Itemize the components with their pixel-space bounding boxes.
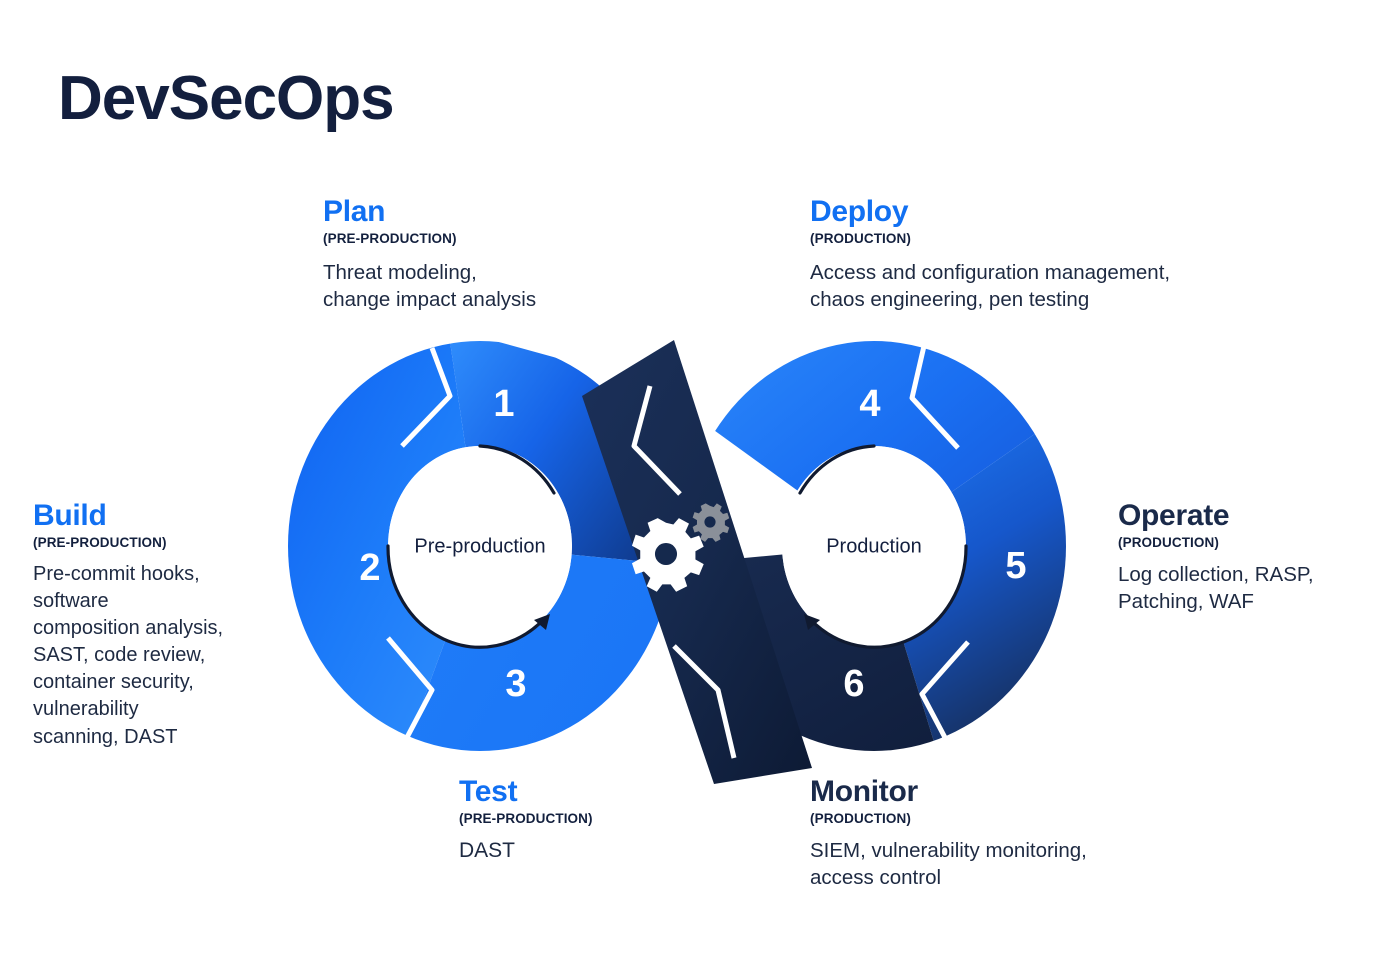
devsecops-infinity-loop: Pre-production Production 1 2 3 4 xyxy=(282,338,1072,788)
stage-env-operate: (PRODUCTION) xyxy=(1118,535,1388,550)
stage-title-test: Test xyxy=(459,776,759,808)
stage-block-operate: Operate (PRODUCTION) Log collection, RAS… xyxy=(1118,500,1388,615)
stage-block-monitor: Monitor (PRODUCTION) SIEM, vulnerability… xyxy=(810,776,1230,891)
stage-title-deploy: Deploy xyxy=(810,196,1330,228)
hub-left-label: Pre-production xyxy=(414,535,545,557)
stage-env-deploy: (PRODUCTION) xyxy=(810,231,1330,246)
hub-left: Pre-production xyxy=(388,446,572,647)
hub-right-label: Production xyxy=(826,535,922,557)
stage-env-monitor: (PRODUCTION) xyxy=(810,811,1230,826)
loop-number-1: 1 xyxy=(493,383,514,425)
stage-desc-deploy: Access and configuration management, cha… xyxy=(810,259,1330,314)
stage-block-test: Test (PRE-PRODUCTION) DAST xyxy=(459,776,759,864)
loop-number-3: 3 xyxy=(505,663,526,705)
hub-right: Production xyxy=(782,446,966,647)
stage-desc-monitor: SIEM, vulnerability monitoring, access c… xyxy=(810,837,1230,892)
stage-desc-operate: Log collection, RASP, Patching, WAF xyxy=(1118,561,1388,616)
stage-title-operate: Operate xyxy=(1118,500,1388,532)
stage-desc-build: Pre-commit hooks, software composition a… xyxy=(33,561,303,751)
loop-number-2: 2 xyxy=(359,547,380,589)
diagram-canvas: DevSecOps xyxy=(0,0,1400,976)
loop-number-4: 4 xyxy=(859,383,880,425)
stage-block-deploy: Deploy (PRODUCTION) Access and configura… xyxy=(810,196,1330,313)
stage-title-build: Build xyxy=(33,500,303,532)
stage-title-plan: Plan xyxy=(323,196,683,228)
stage-desc-test: DAST xyxy=(459,837,759,865)
stage-desc-plan: Threat modeling, change impact analysis xyxy=(323,259,683,314)
stage-block-build: Build (PRE-PRODUCTION) Pre-commit hooks,… xyxy=(33,500,303,751)
loop-number-6: 6 xyxy=(843,663,864,705)
loop-number-5: 5 xyxy=(1005,545,1026,587)
stage-title-monitor: Monitor xyxy=(810,776,1230,808)
stage-env-build: (PRE-PRODUCTION) xyxy=(33,535,303,550)
page-title: DevSecOps xyxy=(58,68,394,130)
stage-env-plan: (PRE-PRODUCTION) xyxy=(323,231,683,246)
stage-block-plan: Plan (PRE-PRODUCTION) Threat modeling, c… xyxy=(323,196,683,313)
stage-env-test: (PRE-PRODUCTION) xyxy=(459,811,759,826)
